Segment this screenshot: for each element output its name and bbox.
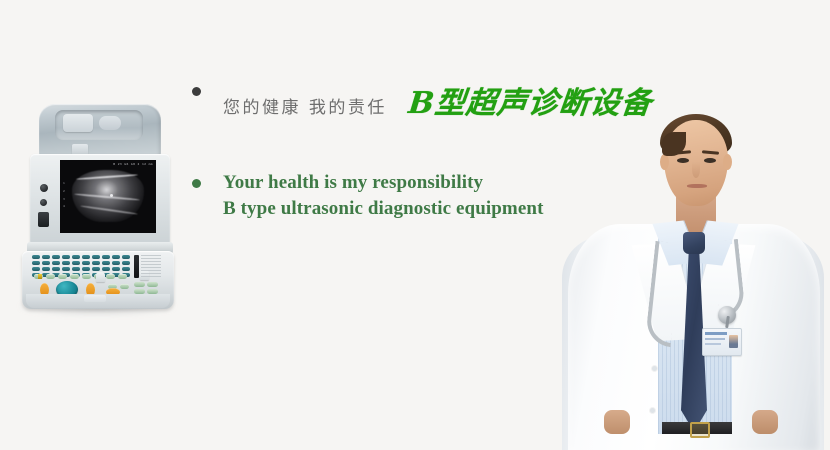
subhead-line-1: Your health is my responsibility	[223, 170, 544, 196]
machine-tgc-slider	[134, 255, 139, 278]
monitor-knob-1	[40, 184, 48, 192]
doctor-nose	[692, 162, 700, 178]
coat-button-2	[650, 408, 655, 413]
machine-handle	[63, 114, 93, 132]
doctor-eye-right	[704, 158, 716, 163]
badge-text-line-1	[705, 338, 725, 340]
keypad-row	[32, 261, 138, 265]
doctor-belt-buckle	[690, 422, 710, 438]
doctor-mouth	[687, 184, 707, 188]
doctor-tie-knot	[683, 232, 705, 254]
promotional-banner: B 23 G6 G8 2 12 mm 1234	[0, 0, 830, 450]
doctor-id-badge	[702, 328, 742, 356]
monitor-knob-2	[40, 199, 47, 206]
subhead-line-2: B type ultrasonic diagnostic equipment	[223, 196, 544, 222]
bullet-dot-icon	[192, 179, 201, 188]
subhead-content: Your health is my responsibility B type …	[223, 170, 544, 222]
doctor-photo	[540, 104, 830, 450]
badge-photo	[729, 335, 738, 348]
machine-tgc-ticks	[141, 255, 161, 278]
screen-depth-scale: 1234	[63, 180, 65, 211]
machine-power-led	[38, 274, 42, 279]
doctor-ear-right	[723, 154, 732, 170]
machine-handle-secondary	[99, 116, 121, 130]
doctor-hand-right	[752, 410, 778, 434]
keypad-row	[32, 267, 138, 271]
machine-monitor-bezel: B 23 G6 G8 2 12 mm 1234	[30, 154, 170, 244]
badge-header-strip	[705, 332, 727, 335]
machine-softkey-row-1	[34, 274, 127, 279]
monitor-power-button	[38, 212, 49, 227]
coat-button-1	[652, 366, 657, 371]
screen-overlay-text: B 23 G6 G8 2 12 mm	[113, 162, 153, 167]
ultrasound-screen: B 23 G6 G8 2 12 mm 1234	[60, 160, 156, 233]
scan-marker-dot	[110, 194, 113, 197]
doctor-eye-left	[677, 158, 689, 163]
product-image-ultrasound-machine: B 23 G6 G8 2 12 mm 1234	[18, 104, 176, 322]
doctor-ear-left	[660, 154, 669, 170]
keypad-row	[32, 255, 138, 259]
machine-front-latch	[84, 295, 106, 302]
chinese-tagline: 您的健康 我的责任	[223, 93, 387, 118]
badge-text-line-2	[705, 343, 721, 345]
doctor-hand-left	[604, 410, 630, 434]
machine-lid	[39, 104, 161, 158]
bullet-dot-icon	[192, 87, 201, 96]
machine-knob-center	[96, 272, 105, 282]
